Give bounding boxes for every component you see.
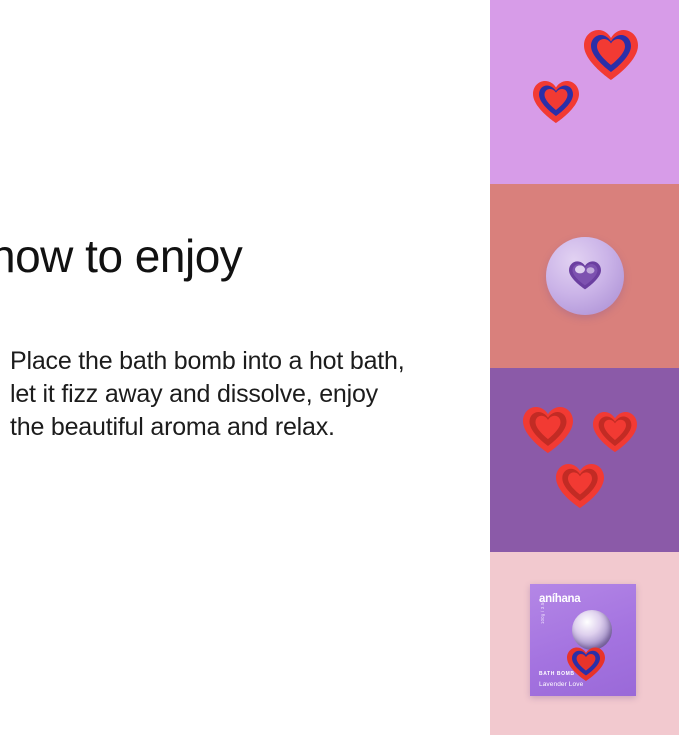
tile-hearts-on-lilac	[490, 0, 679, 184]
product-box: aníhana 100g / 3.5oz BATH BOMB Lavender …	[530, 584, 636, 696]
bath-bomb-illustration	[572, 610, 612, 650]
bath-bomb-image	[546, 237, 624, 315]
tile-product-box-on-pink: aníhana 100g / 3.5oz BATH BOMB Lavender …	[490, 552, 679, 735]
tile-bath-bomb-on-coral	[490, 184, 679, 368]
embedded-heart-icon	[568, 260, 602, 290]
page-title: how to enjoy	[0, 232, 242, 280]
heart-icon	[554, 462, 606, 510]
heart-icon	[582, 28, 640, 82]
heart-icon	[521, 405, 575, 455]
brand-logo: aníhana	[539, 593, 580, 605]
heart-icon	[591, 410, 639, 454]
box-weight-text: 100g / 3.5oz	[540, 597, 545, 624]
image-strip: aníhana 100g / 3.5oz BATH BOMB Lavender …	[490, 0, 679, 735]
product-detail-image: how to enjoy Place the bath bomb into a …	[0, 0, 679, 735]
product-variant-label: Lavender Love	[539, 681, 583, 688]
tile-hearts-on-purple	[490, 368, 679, 552]
text-column: how to enjoy Place the bath bomb into a …	[0, 0, 490, 735]
product-type-label: BATH BOMB	[539, 671, 575, 677]
heart-icon	[531, 79, 581, 125]
body-description: Place the bath bomb into a hot bath, let…	[10, 345, 410, 444]
